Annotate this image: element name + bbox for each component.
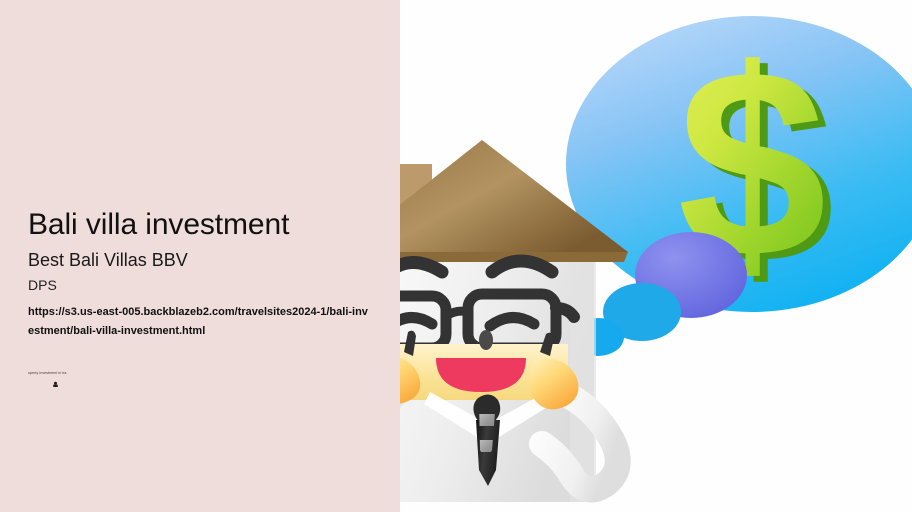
site-code: DPS [28,277,380,294]
micro-caption-block: operty investment in ba [28,372,228,388]
info-panel: Bali villa investment Best Bali Villas B… [0,0,400,512]
house-character-illustration: $ $ [400,0,912,512]
site-name: Best Bali Villas BBV [28,250,380,272]
source-url[interactable]: https://s3.us-east-005.backblazeb2.com/t… [28,303,373,342]
illustration-panel: $ $ [400,0,912,512]
screenshot-page: Bali villa investment Best Bali Villas B… [0,0,912,512]
micro-caption: operty investment in ba [28,372,228,376]
nose [479,330,493,350]
info-text-block: Bali villa investment Best Bali Villas B… [28,208,380,341]
page-title: Bali villa investment [28,208,380,242]
tiny-badge-icon [52,381,59,388]
